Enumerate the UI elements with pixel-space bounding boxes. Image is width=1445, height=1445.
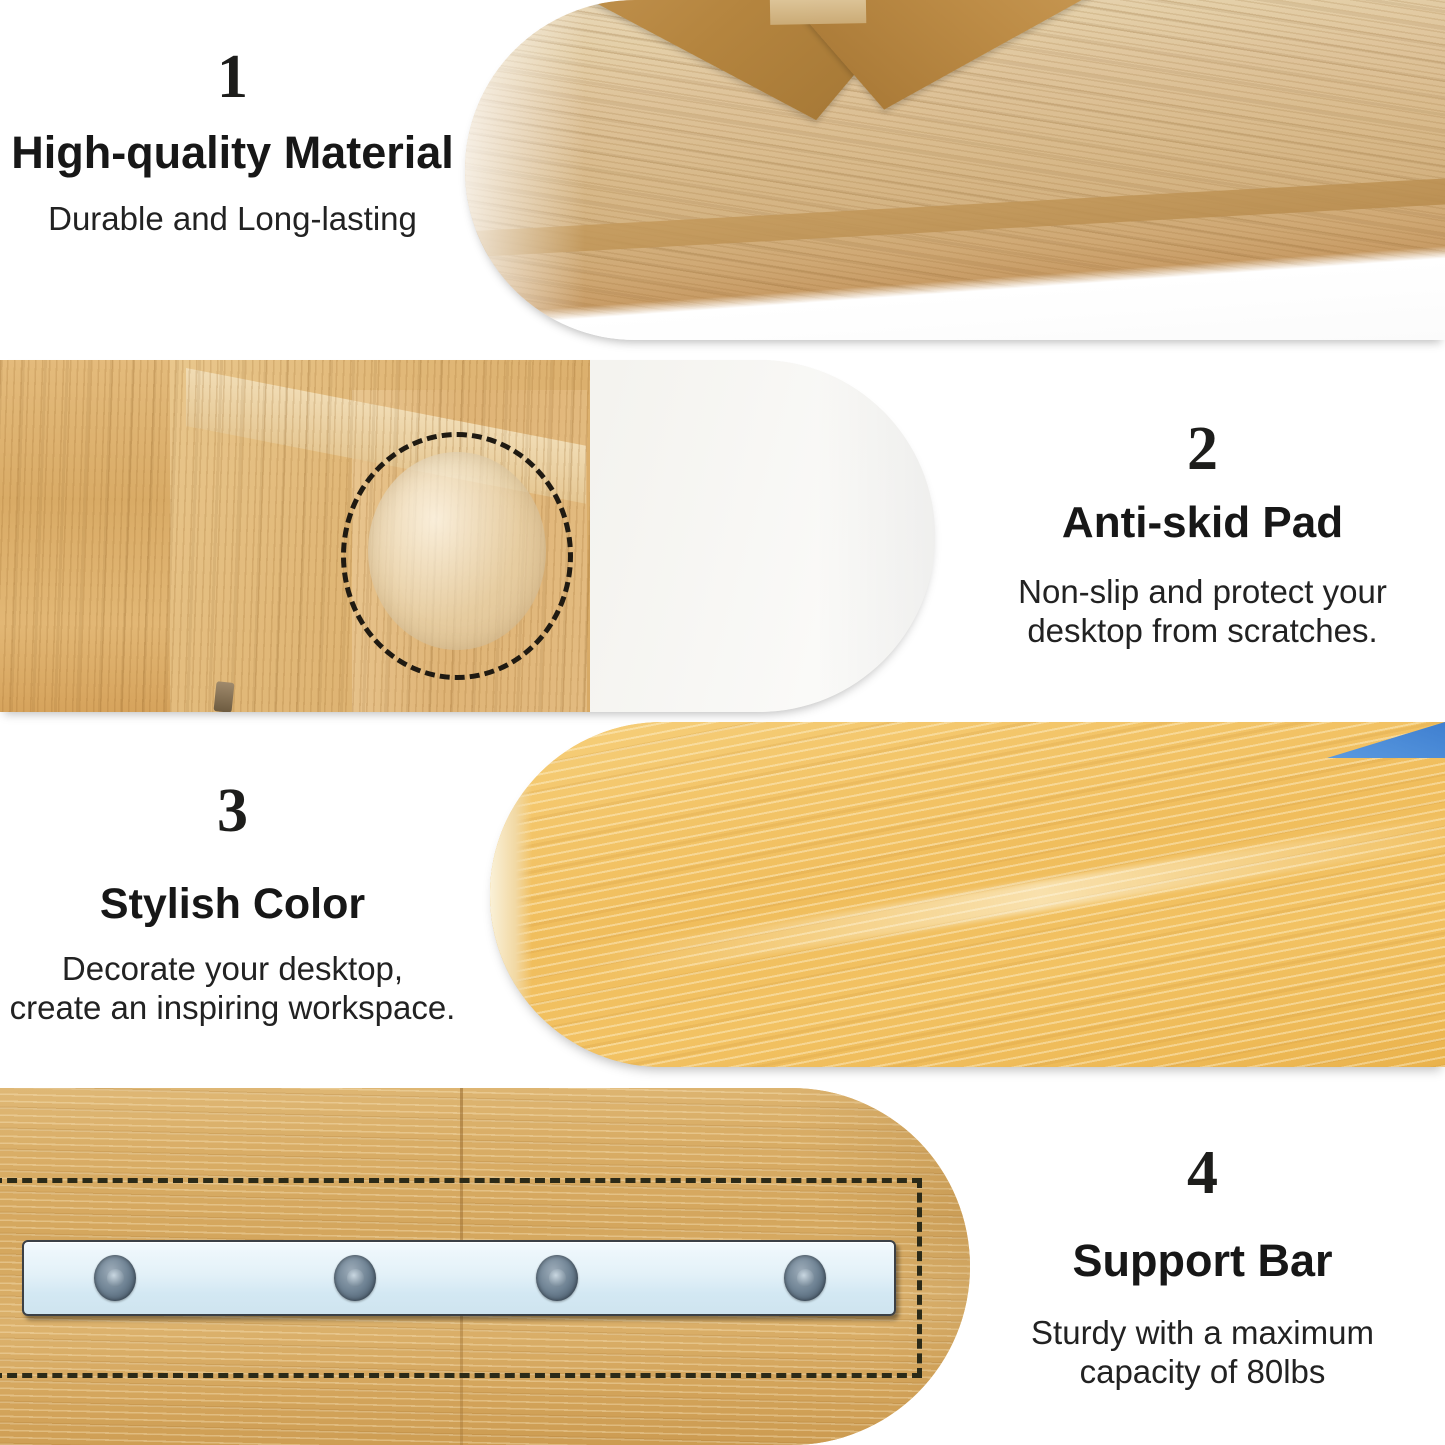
riser-joint [770, 0, 867, 25]
feature-4-title: Support Bar [1072, 1238, 1332, 1285]
feature-2-subtitle-line-2: desktop from scratches. [1018, 611, 1387, 651]
feature-1-number: 1 [217, 46, 248, 108]
feature-4-subtitle-line-2: capacity of 80lbs [1031, 1352, 1374, 1392]
feature-1-text-block: 1 High-quality Material Durable and Long… [0, 0, 465, 352]
board-rounded-edge [490, 722, 532, 1067]
feature-3-subtitle-line-2: create an inspiring workspace. [10, 988, 456, 1028]
feature-1-title: High-quality Material [11, 130, 454, 177]
feature-panel-4: 4 Support Bar Sturdy with a maximum capa… [0, 1088, 1445, 1445]
feature-1-subtitle: Durable and Long-lasting [48, 199, 417, 239]
feature-4-number: 4 [1187, 1142, 1218, 1204]
feature-2-title: Anti-skid Pad [1062, 500, 1343, 546]
feature-3-image [490, 722, 1445, 1067]
feature-4-subtitle-line-1: Sturdy with a maximum [1031, 1313, 1374, 1353]
feature-2-image [0, 360, 935, 712]
screw-icon-1 [94, 1255, 136, 1301]
feature-panel-1: 1 High-quality Material Durable and Long… [0, 0, 1445, 352]
feature-2-text-block: 2 Anti-skid Pad Non-slip and protect you… [960, 360, 1445, 715]
feature-3-title: Stylish Color [100, 882, 365, 927]
feature-3-number: 3 [217, 780, 248, 842]
screw-detail [213, 681, 234, 712]
screw-icon-3 [536, 1255, 578, 1301]
feature-panel-2: 2 Anti-skid Pad Non-slip and protect you… [0, 360, 1445, 715]
board-edge-highlight [465, 0, 585, 340]
screw-icon-4 [784, 1255, 826, 1301]
product-feature-infographic: 1 High-quality Material Durable and Long… [0, 0, 1445, 1445]
feature-2-subtitle-line-1: Non-slip and protect your [1018, 572, 1387, 612]
feature-3-text-block: 3 Stylish Color Decorate your desktop, c… [0, 722, 465, 1080]
feature-4-text-block: 4 Support Bar Sturdy with a maximum capa… [960, 1088, 1445, 1445]
feature-2-number: 2 [1187, 418, 1218, 480]
feature-1-image [465, 0, 1445, 340]
feature-3-subtitle-line-1: Decorate your desktop, [10, 949, 456, 989]
metal-support-bar [22, 1240, 896, 1316]
dashed-highlight-circle-icon [341, 432, 573, 680]
screw-icon-2 [334, 1255, 376, 1301]
feature-4-image [0, 1088, 970, 1445]
feature-panel-3: 3 Stylish Color Decorate your desktop, c… [0, 722, 1445, 1080]
